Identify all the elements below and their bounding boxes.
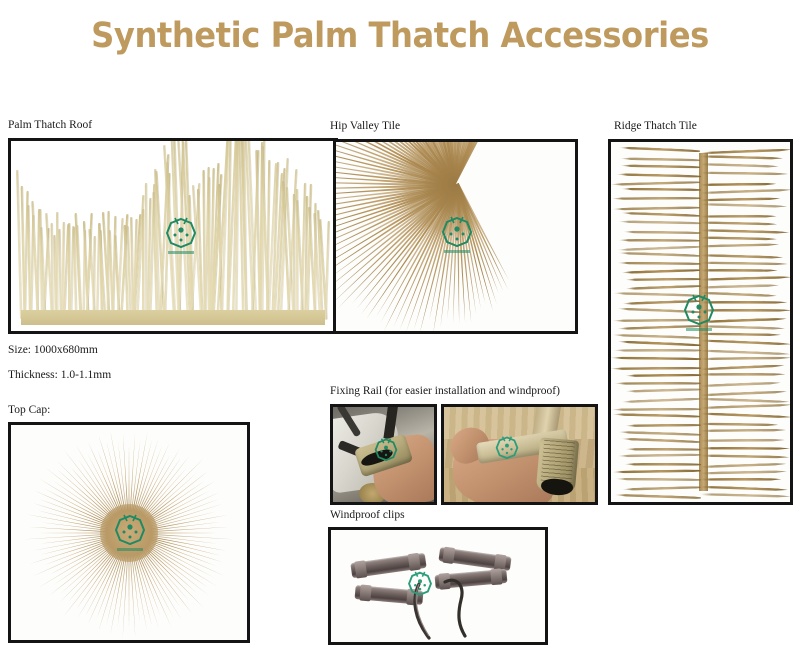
- photo-ridge-thatch-tile: [608, 139, 793, 505]
- spec-size: Size: 1000x680mm: [8, 344, 98, 356]
- top-cap-image: [11, 425, 247, 640]
- wire-hook-right: [439, 576, 477, 638]
- photo-top-cap: [8, 422, 250, 643]
- caption-top-cap: Top Cap:: [8, 404, 50, 416]
- caption-ridge-thatch-tile: Ridge Thatch Tile: [614, 120, 697, 132]
- hip-valley-tile-image: [336, 142, 575, 331]
- photo-palm-thatch-roof: [8, 138, 338, 334]
- spec-thickness: Thickness: 1.0-1.1mm: [8, 369, 111, 381]
- photo-fixing-rail-1: [330, 404, 437, 505]
- caption-fixing-rail: Fixing Rail (for easier installation and…: [330, 385, 560, 397]
- palm-thatch-roof-image: [11, 141, 335, 331]
- photo-hip-valley-tile: [333, 139, 578, 334]
- caption-palm-thatch-roof: Palm Thatch Roof: [8, 119, 92, 131]
- caption-windproof-clips: Windproof clips: [330, 509, 405, 521]
- product-catalog-page: Synthetic Palm Thatch Accessories Palm T…: [0, 0, 800, 655]
- windproof-clips-image: [331, 530, 545, 642]
- ridge-thatch-tile-image: [611, 142, 790, 502]
- fixing-rail-image-1: [333, 407, 434, 502]
- fixing-rail-image-2: [444, 407, 595, 502]
- photo-windproof-clips: [328, 527, 548, 645]
- page-title: Synthetic Palm Thatch Accessories: [32, 16, 768, 56]
- caption-hip-valley-tile: Hip Valley Tile: [330, 120, 400, 132]
- photo-fixing-rail-2: [441, 404, 598, 505]
